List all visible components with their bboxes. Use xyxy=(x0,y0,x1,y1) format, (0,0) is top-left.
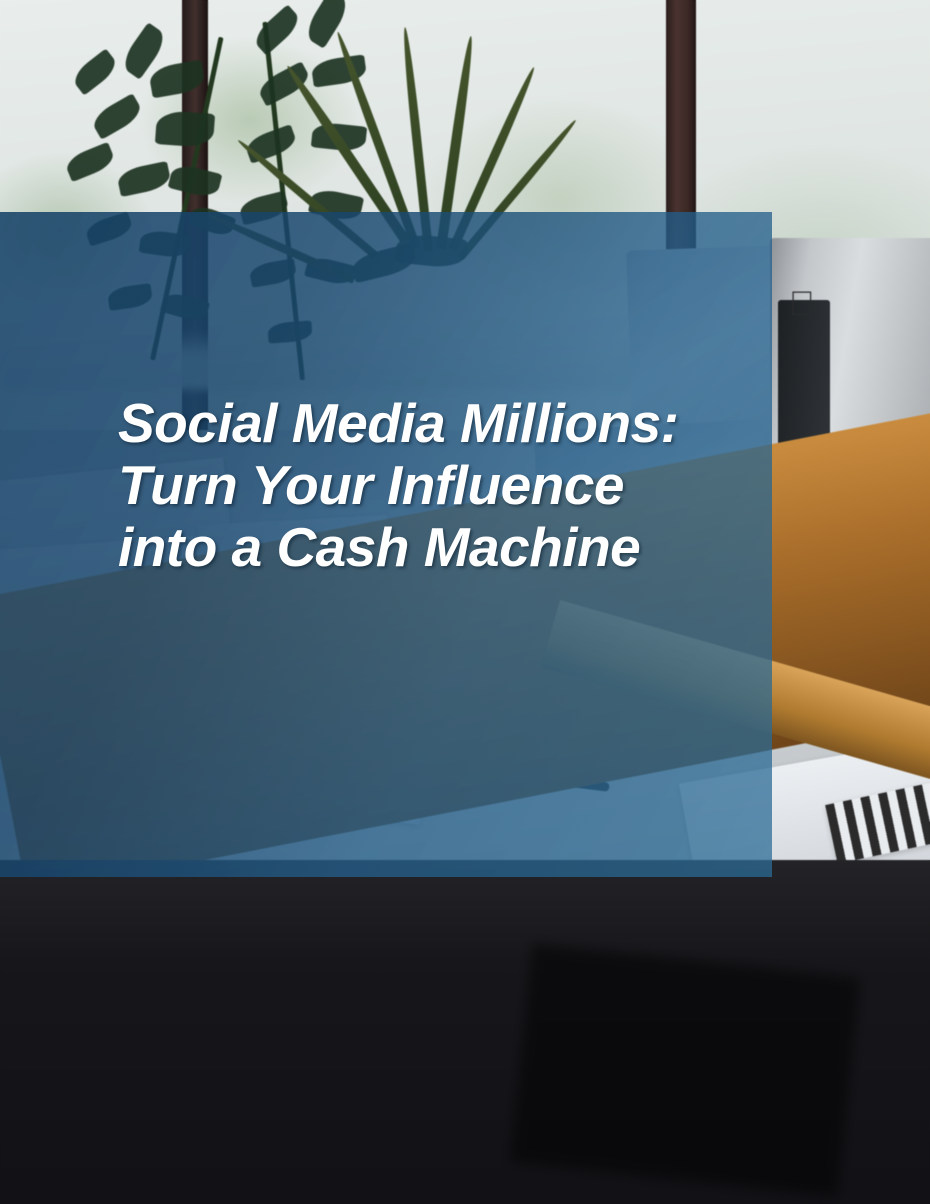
page-title: Social Media Millions: Turn Your Influen… xyxy=(118,392,718,578)
chair-shadow xyxy=(509,943,860,1196)
apple-logo-icon:  xyxy=(789,288,817,320)
hero-banner:  Driving the business Social Media Mill… xyxy=(0,0,930,1204)
